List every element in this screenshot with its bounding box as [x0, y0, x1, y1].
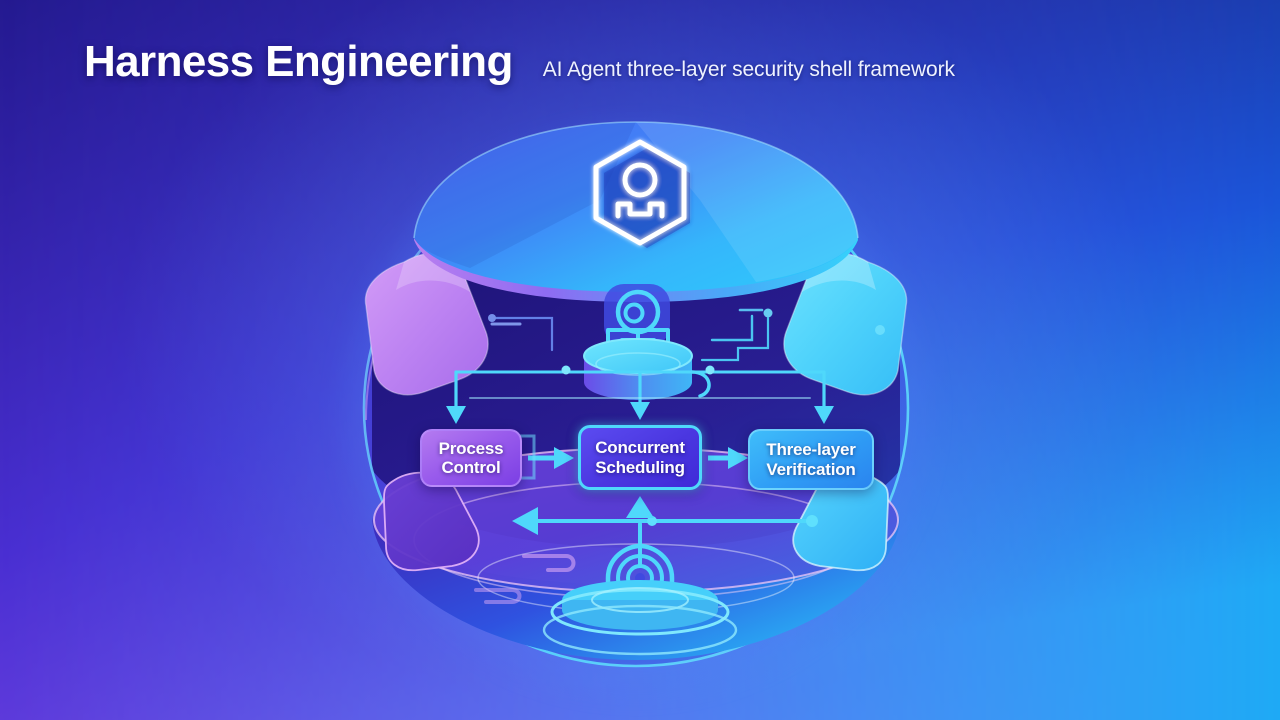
page-subtitle: AI Agent three-layer security shell fram…: [543, 59, 955, 80]
connector-node-left: [562, 366, 571, 375]
process-control-line1: Process: [439, 439, 504, 458]
feedback-node-right: [806, 515, 818, 527]
connector-node-right: [706, 366, 715, 375]
page-header: Harness Engineering AI Agent three-layer…: [84, 40, 955, 84]
pipeline-node-three-layer-verification[interactable]: Three-layer Verification: [748, 429, 874, 490]
page-title: Harness Engineering: [84, 40, 513, 84]
security-shell-diagram: [0, 0, 1280, 720]
pipeline-node-concurrent-scheduling[interactable]: Concurrent Scheduling: [578, 425, 702, 490]
concurrent-scheduling-line1: Concurrent: [595, 438, 685, 457]
trace-node-left-a: [488, 314, 496, 322]
illustration-canvas: Process Control Concurrent Scheduling Th…: [0, 0, 1280, 720]
concurrent-scheduling-line2: Scheduling: [595, 458, 685, 477]
three-layer-verification-line1: Three-layer: [766, 440, 855, 459]
trace-node-right-a: [764, 309, 773, 318]
three-layer-verification-line2: Verification: [766, 460, 855, 479]
accent-dot-right: [875, 325, 885, 335]
pipeline-node-process-control[interactable]: Process Control: [420, 429, 522, 487]
process-control-line2: Control: [439, 458, 504, 477]
